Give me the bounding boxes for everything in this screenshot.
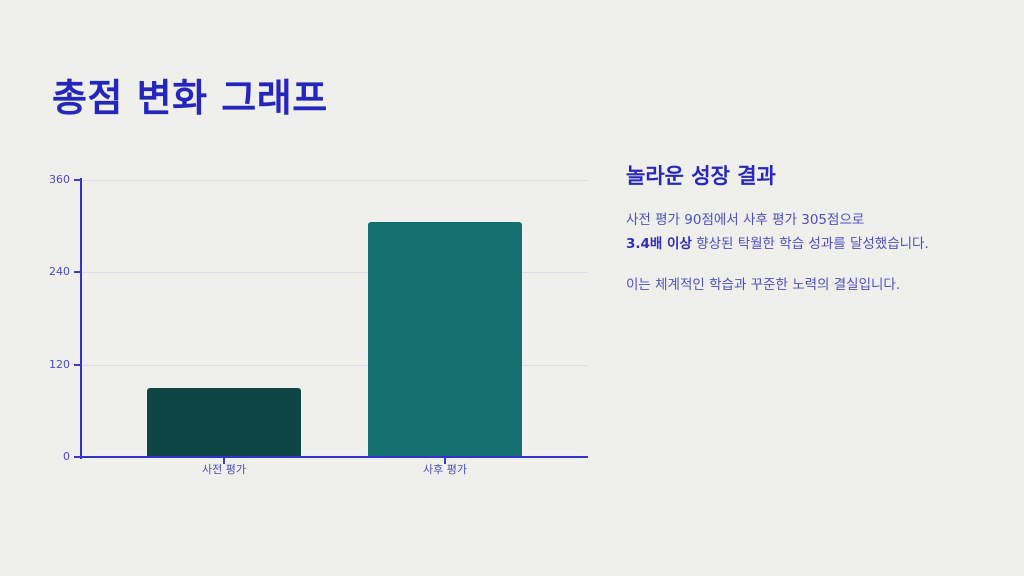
- y-tick-mark-240: [74, 271, 81, 273]
- chart-plot-area: [81, 180, 588, 457]
- bar-chart: 360 240 120 0 사전 평가 사후 평가: [0, 0, 620, 500]
- y-tick-label-0: 0: [30, 451, 70, 462]
- y-tick-mark-0: [74, 456, 81, 458]
- y-tick-label-120: 120: [30, 359, 70, 370]
- y-axis-line: [80, 178, 82, 459]
- y-tick-mark-120: [74, 364, 81, 366]
- x-axis-line: [80, 456, 588, 458]
- info-paragraph-1: 사전 평가 90점에서 사후 평가 305점으로 3.4배 이상 향상된 탁월한…: [626, 209, 986, 256]
- bar-post-assessment[interactable]: [368, 222, 522, 457]
- x-tick-label-post: 사후 평가: [375, 461, 515, 477]
- info-highlight-multiplier: 3.4배 이상: [626, 236, 692, 252]
- gridline-360: [81, 180, 588, 181]
- y-tick-label-360: 360: [30, 174, 70, 185]
- y-tick-mark-360: [74, 179, 81, 181]
- info-paragraph-2: 이는 체계적인 학습과 꾸준한 노력의 결실입니다.: [626, 274, 986, 298]
- info-panel: 놀라운 성장 결과 사전 평가 90점에서 사후 평가 305점으로 3.4배 …: [626, 164, 986, 298]
- bar-pre-assessment[interactable]: [147, 388, 301, 457]
- info-line-1: 사전 평가 90점에서 사후 평가 305점으로: [626, 212, 864, 228]
- info-panel-heading: 놀라운 성장 결과: [626, 164, 986, 189]
- y-tick-label-240: 240: [30, 266, 70, 277]
- x-tick-label-pre: 사전 평가: [154, 461, 294, 477]
- info-line-2-rest: 향상된 탁월한 학습 성과를 달성했습니다.: [692, 236, 929, 252]
